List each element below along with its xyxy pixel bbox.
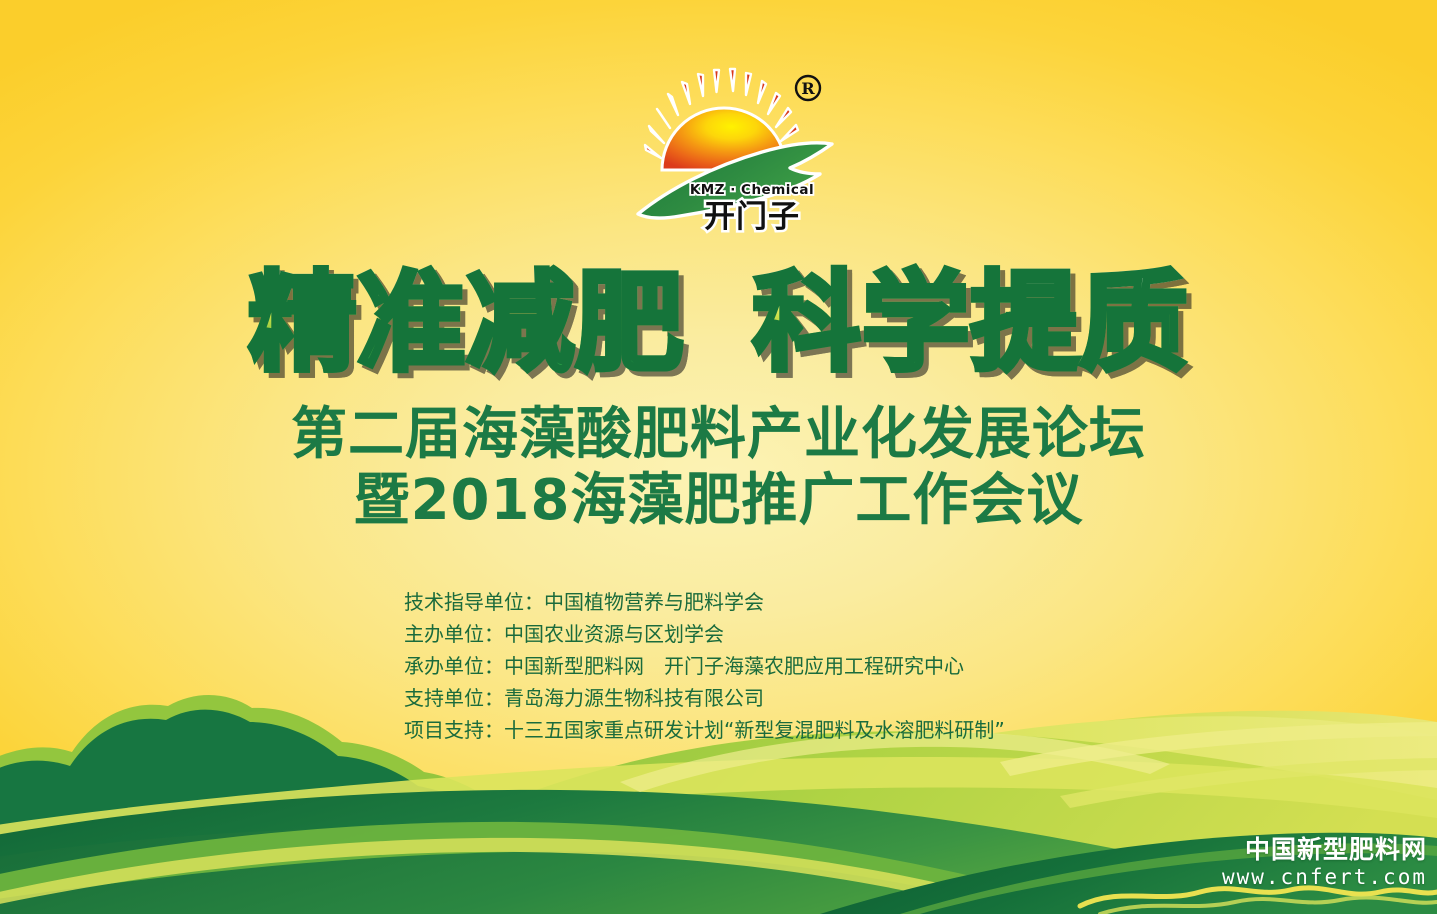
watermark-site-name: 中国新型肥料网 [1222, 836, 1427, 864]
headline-part-1: 精准减肥 [248, 268, 684, 380]
brand-lockup: KMZ · Chemical 开门子 [690, 182, 814, 235]
credit-line-supporter: 支持单位：青岛海力源生物科技有限公司 [404, 682, 1005, 714]
svg-text:R: R [801, 79, 815, 98]
watermark-url: www.cnfert.com [1222, 864, 1427, 890]
event-subtitle: 第二届海藻酸肥料产业化发展论坛 暨2018海藻肥推广工作会议 [0, 404, 1437, 536]
credit-line-technical-guidance: 技术指导单位：中国植物营养与肥料学会 [404, 586, 1005, 618]
credit-line-organizer: 承办单位：中国新型肥料网 开门子海藻农肥应用工程研究中心 [404, 650, 1005, 682]
credit-line-project-support: 项目支持：十三五国家重点研发计划“新型复混肥料及水溶肥料研制” [404, 714, 1005, 746]
brand-logo: R KMZ · Chemical 开门子 [622, 62, 842, 247]
subtitle-line-1: 第二届海藻酸肥料产业化发展论坛 [0, 404, 1437, 466]
headline-part-2: 科学提质 [753, 268, 1189, 380]
organizer-credits: 技术指导单位：中国植物营养与肥料学会 主办单位：中国农业资源与区划学会 承办单位… [404, 586, 1005, 746]
subtitle-line-2: 暨2018海藻肥推广工作会议 [0, 466, 1437, 537]
event-poster: R KMZ · Chemical 开门子 精准减肥 科学提质 第二届海藻酸肥料产… [0, 0, 1437, 914]
site-watermark: 中国新型肥料网 www.cnfert.com [1222, 836, 1427, 890]
registered-trademark-icon: R [796, 76, 820, 100]
page-title: 精准减肥 科学提质 [0, 268, 1437, 380]
brand-latin-text: KMZ · Chemical [690, 182, 814, 198]
brand-cn-text: 开门子 [704, 199, 800, 235]
credit-line-host: 主办单位：中国农业资源与区划学会 [404, 618, 1005, 650]
